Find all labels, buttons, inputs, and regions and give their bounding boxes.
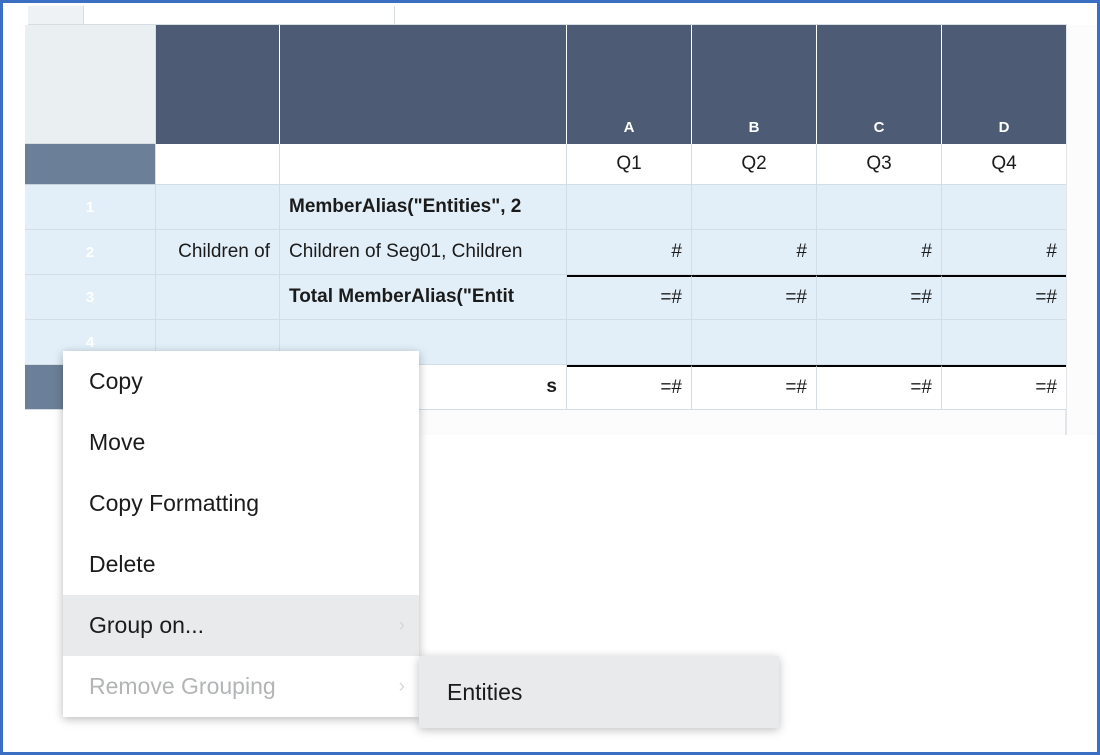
- row-header-1[interactable]: 1: [25, 185, 156, 230]
- table-cell-r2-b[interactable]: #: [692, 230, 817, 275]
- submenu-item-entities[interactable]: Entities: [419, 656, 779, 728]
- subheader-q4[interactable]: Q4: [942, 144, 1066, 185]
- table-cell-r5-c[interactable]: =#: [817, 365, 942, 410]
- strip-cell-left: [84, 6, 395, 25]
- grid-right-gutter: [1066, 25, 1097, 435]
- strip-cell-right: [395, 6, 1067, 25]
- table-cell-r5-b[interactable]: =#: [692, 365, 817, 410]
- column-header-d[interactable]: D: [942, 25, 1066, 144]
- submenu-item-label: Entities: [447, 679, 522, 705]
- row-header-3[interactable]: 3: [25, 275, 156, 320]
- table-cell-r4-c[interactable]: [817, 320, 942, 365]
- table-cell-r4-a[interactable]: [567, 320, 692, 365]
- submenu-group-on[interactable]: Entities: [419, 656, 779, 728]
- strip-corner-cell: [28, 6, 84, 25]
- subheader-q2[interactable]: Q2: [692, 144, 817, 185]
- context-menu-item-label: Copy: [89, 368, 143, 394]
- subheader-blank-2[interactable]: [280, 144, 567, 185]
- table-cell-r2-colb[interactable]: Children of: [156, 230, 280, 275]
- context-menu-item-label: Move: [89, 429, 145, 455]
- table-cell-r3-colb[interactable]: [156, 275, 280, 320]
- table-cell-r4-b[interactable]: [692, 320, 817, 365]
- row-header-2[interactable]: 2: [25, 230, 156, 275]
- table-cell-r1-b[interactable]: [692, 185, 817, 230]
- table-cell-r1-d[interactable]: [942, 185, 1066, 230]
- column-header-b[interactable]: B: [692, 25, 817, 144]
- table-cell-r3-colc[interactable]: Total MemberAlias("Entit: [280, 275, 567, 320]
- column-header-c[interactable]: C: [817, 25, 942, 144]
- context-menu-item-label: Delete: [89, 551, 155, 577]
- subheader-blank-1[interactable]: [156, 144, 280, 185]
- table-cell-r1-colc[interactable]: MemberAlias("Entities", 2: [280, 185, 567, 230]
- application-window: A B C D Q1 Q2 Q3 Q4 1 MemberAlias("Entit…: [0, 0, 1100, 755]
- context-menu-item-label: Group on...: [89, 612, 204, 638]
- table-cell-r4-d[interactable]: [942, 320, 1066, 365]
- subheader-q1[interactable]: Q1: [567, 144, 692, 185]
- table-cell-r1-c[interactable]: [817, 185, 942, 230]
- context-menu-item-move[interactable]: Move: [63, 412, 419, 473]
- context-menu-item-delete[interactable]: Delete: [63, 534, 419, 595]
- column-header-blank-1[interactable]: [156, 25, 280, 144]
- context-menu-item-label: Remove Grouping: [89, 673, 276, 699]
- table-cell-r3-a[interactable]: =#: [567, 275, 692, 320]
- panel-top-strip: [6, 6, 1100, 25]
- context-menu-item-group-on[interactable]: Group on... ›: [63, 595, 419, 656]
- column-header-blank-2[interactable]: [280, 25, 567, 144]
- context-menu-item-label: Copy Formatting: [89, 490, 259, 516]
- table-cell-r3-c[interactable]: =#: [817, 275, 942, 320]
- grid-select-all-handle[interactable]: [25, 144, 156, 185]
- context-menu[interactable]: Copy Move Copy Formatting Delete Group o…: [63, 351, 419, 717]
- context-menu-item-copy[interactable]: Copy: [63, 351, 419, 412]
- table-cell-r1-a[interactable]: [567, 185, 692, 230]
- chevron-right-icon: ›: [399, 595, 405, 656]
- context-menu-item-copy-formatting[interactable]: Copy Formatting: [63, 473, 419, 534]
- table-cell-r2-d[interactable]: #: [942, 230, 1066, 275]
- chevron-right-icon: ›: [399, 656, 405, 717]
- context-menu-item-remove-grouping[interactable]: Remove Grouping ›: [63, 656, 419, 717]
- table-cell-r1-colb[interactable]: [156, 185, 280, 230]
- table-cell-r3-b[interactable]: =#: [692, 275, 817, 320]
- table-cell-r5-d[interactable]: =#: [942, 365, 1066, 410]
- column-header-a[interactable]: A: [567, 25, 692, 144]
- table-cell-r2-colc[interactable]: Children of Seg01, Children: [280, 230, 567, 275]
- grid-corner-header[interactable]: [25, 25, 156, 144]
- table-cell-r3-d[interactable]: =#: [942, 275, 1066, 320]
- subheader-q3[interactable]: Q3: [817, 144, 942, 185]
- table-cell-r2-a[interactable]: #: [567, 230, 692, 275]
- table-cell-r5-a[interactable]: =#: [567, 365, 692, 410]
- table-cell-r2-c[interactable]: #: [817, 230, 942, 275]
